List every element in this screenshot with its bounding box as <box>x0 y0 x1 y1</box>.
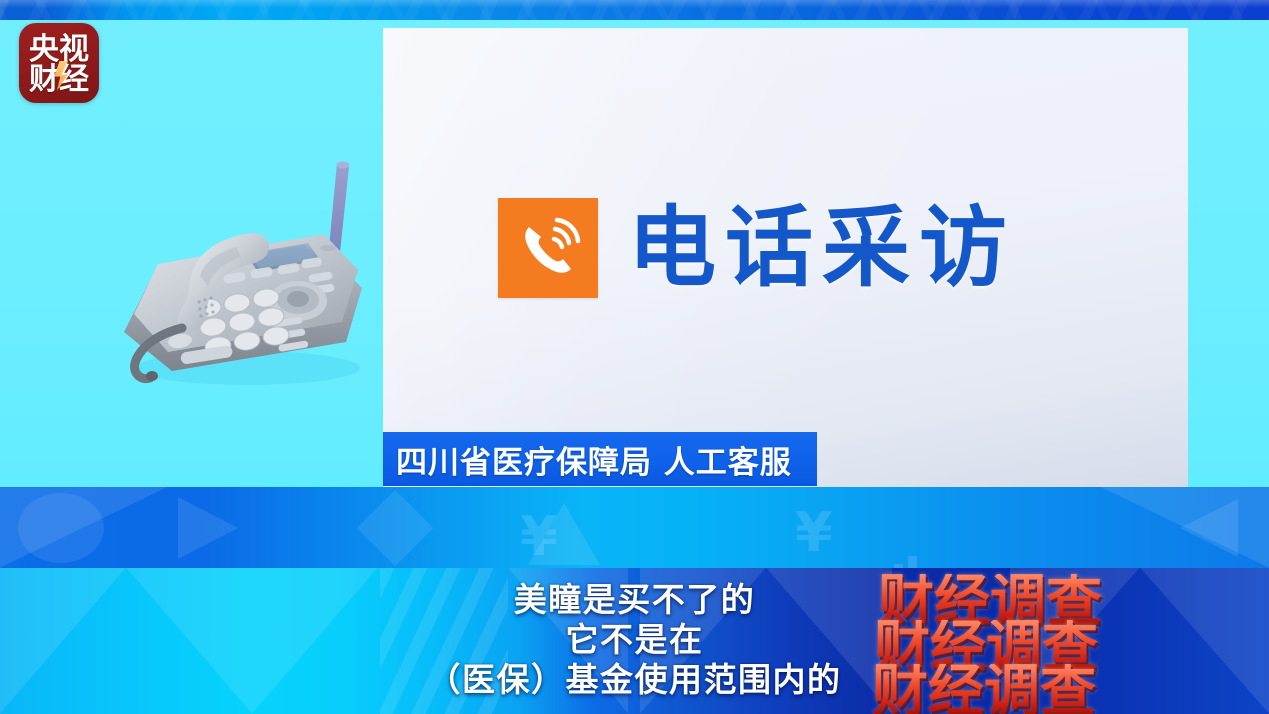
broadcast-frame: 央视 财经 电话采访 四川省医疗保障局 人工客服 ¥ ¥ <box>0 0 1269 714</box>
headline-text: 电话采访 <box>628 204 1016 292</box>
caption-bar: 四川省医疗保障局 人工客服 <box>383 432 817 486</box>
subtitle-line-1: 美瞳是买不了的 <box>0 580 1269 620</box>
pattern-bar-chart-icon <box>880 509 917 568</box>
logo-line-1: 央视 <box>19 35 99 65</box>
phone-interview-headline: 电话采访 <box>498 198 1016 298</box>
subtitle-block: 美瞳是买不了的 它不是在 （医保）基金使用范围内的 <box>0 580 1269 700</box>
cctv-finance-logo: 央视 财经 <box>19 23 99 103</box>
caption-text: 四川省医疗保障局 人工客服 <box>396 437 792 482</box>
top-bar-highlight <box>0 0 1269 8</box>
top-gradient-bar <box>0 0 1269 20</box>
mid-pattern-band: ¥ ¥ <box>0 487 1269 568</box>
pattern-yen-a: ¥ <box>520 505 580 565</box>
subtitle-line-3: （医保）基金使用范围内的 <box>0 660 1269 700</box>
pattern-diamond <box>357 490 433 566</box>
subtitle-line-2: 它不是在 <box>0 620 1269 660</box>
pattern-arrow <box>178 497 238 559</box>
phone-call-icon <box>498 198 598 298</box>
pattern-tri-right <box>0 487 168 568</box>
pattern-yen-b: ¥ <box>795 501 855 561</box>
desk-telephone-photo <box>96 136 396 396</box>
